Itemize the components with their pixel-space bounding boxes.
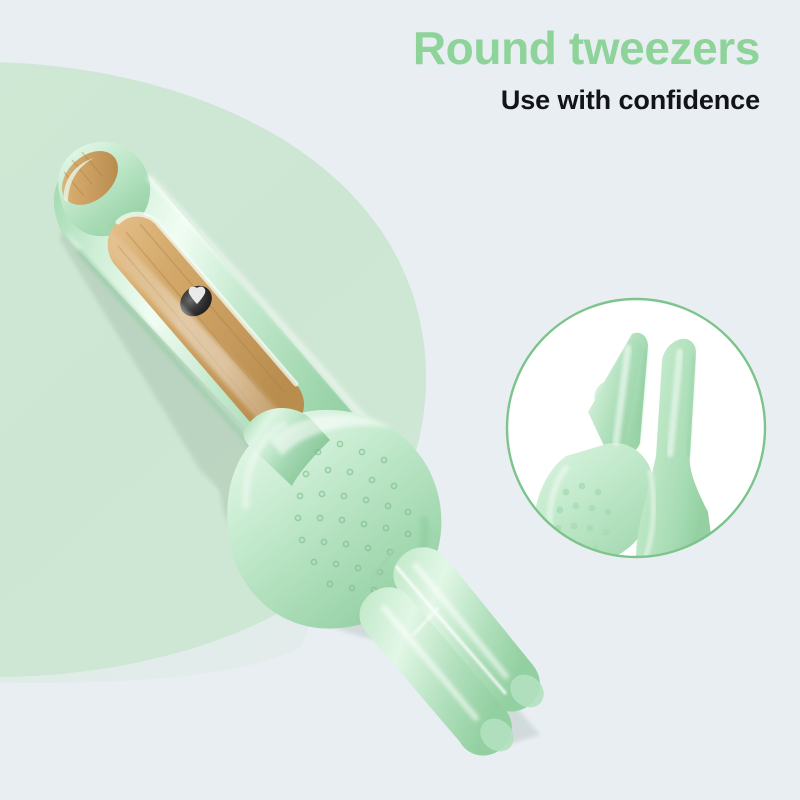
product-marketing-banner: Round tweezers Use with confidence	[0, 0, 800, 800]
headline-block: Round tweezers Use with confidence	[240, 24, 760, 116]
page-subtitle: Use with confidence	[240, 86, 760, 116]
detail-zoom-circle	[504, 296, 768, 560]
page-title: Round tweezers	[240, 24, 760, 72]
